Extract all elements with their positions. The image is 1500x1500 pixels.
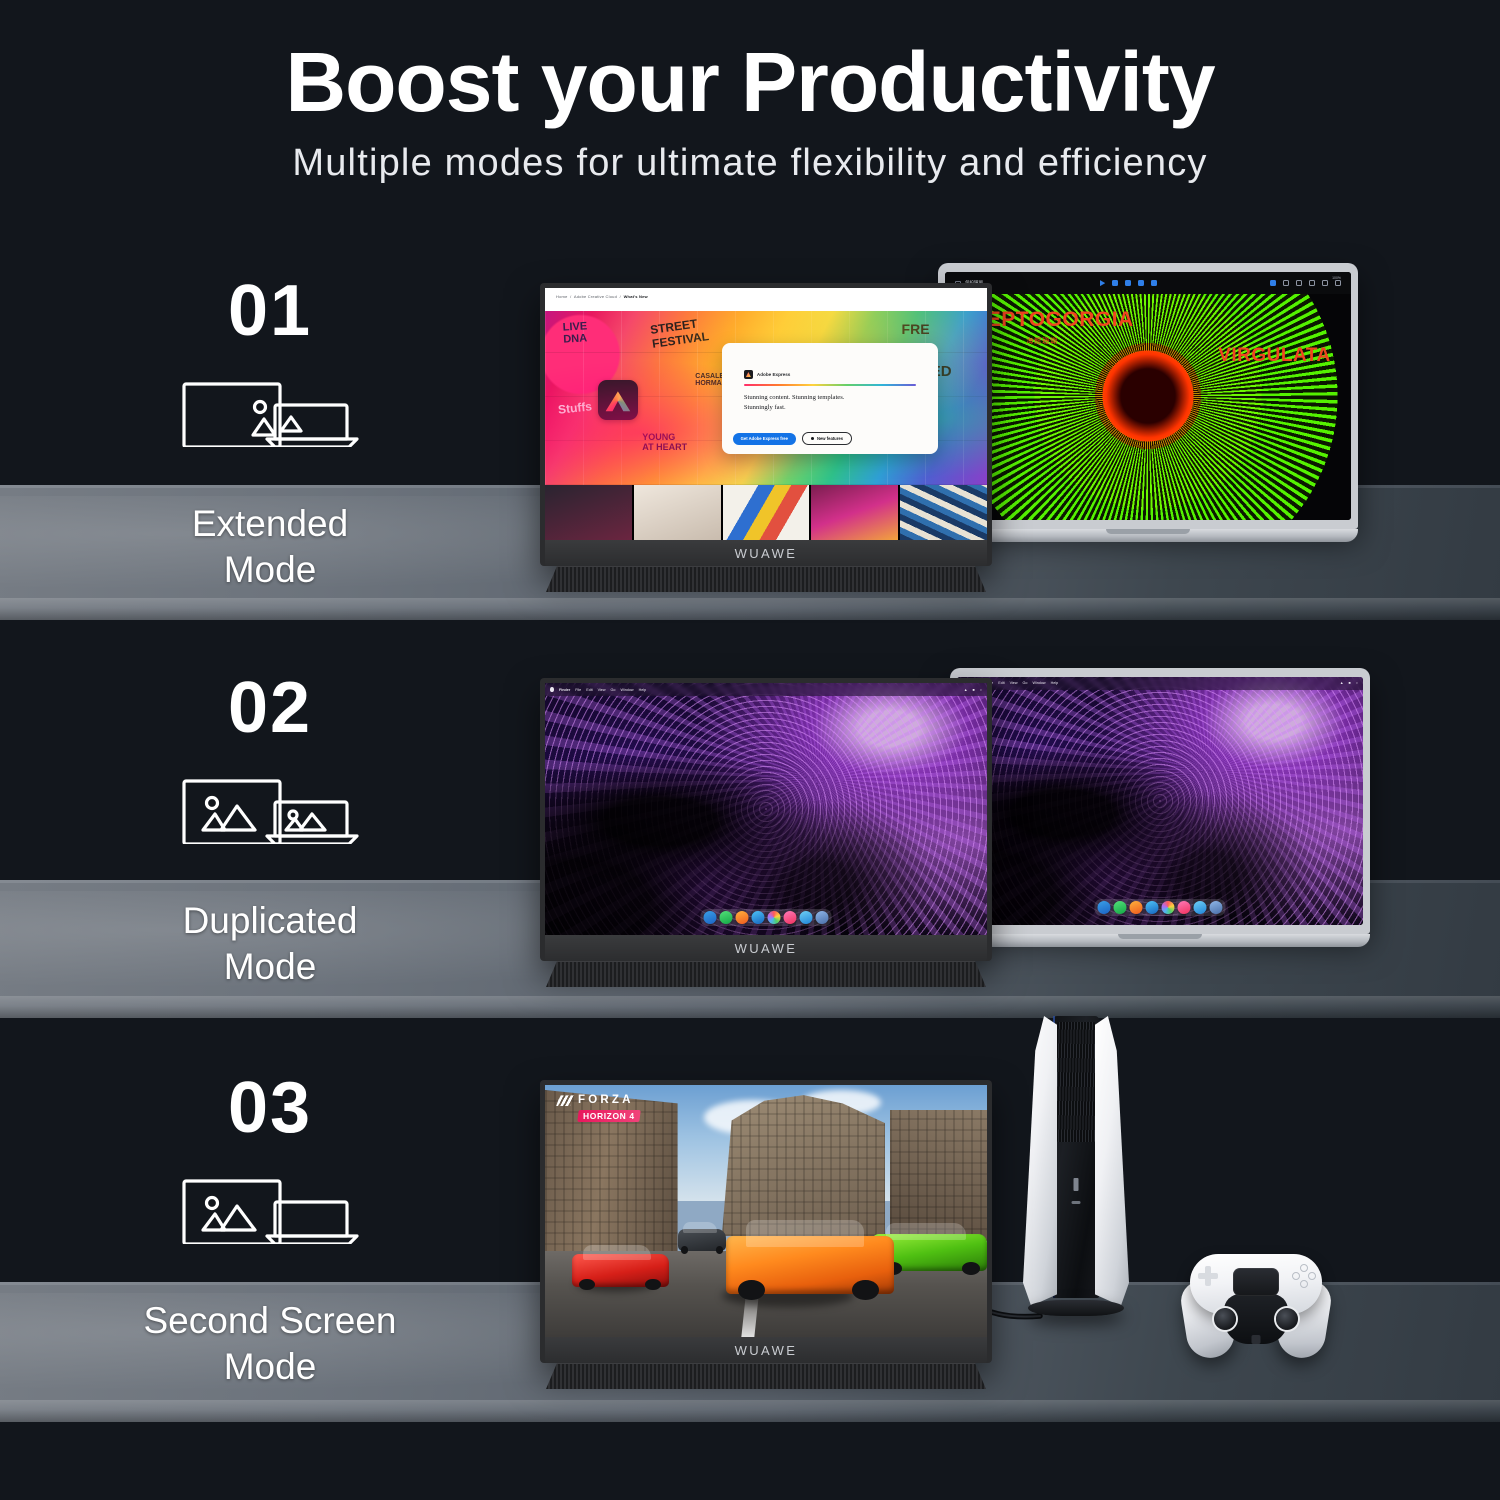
monitor-screen: FORZA HORIZON 4	[545, 1085, 987, 1337]
menu-item-finder[interactable]: Finder	[559, 688, 570, 692]
menu-item-help[interactable]: Help	[1051, 681, 1059, 685]
template-thumbnail[interactable]	[811, 485, 898, 540]
mode-label: Second Screen Mode	[105, 1298, 435, 1391]
battery-icon[interactable]: ■	[973, 688, 975, 692]
ps5-vent	[1056, 1022, 1096, 1142]
breadcrumb-home[interactable]: Home	[556, 294, 567, 299]
cross-button-icon[interactable]	[1300, 1280, 1308, 1288]
device-stage-extended: LEPTOGORGIA 海鳃珊瑚 VIRGULATA 保护珊瑚	[520, 255, 1400, 585]
apple-logo-icon[interactable]	[550, 687, 554, 692]
template-thumbnail[interactable]	[723, 485, 810, 540]
orange-supercar	[726, 1236, 894, 1294]
breadcrumb[interactable]: Home / Adobe Creative Cloud / What's New	[556, 294, 648, 299]
triangle-button-icon[interactable]	[1300, 1264, 1308, 1272]
sparkle-icon	[811, 437, 814, 440]
breadcrumb-current: What's New	[624, 294, 648, 299]
app-toolbar: 保护珊瑚	[945, 272, 1351, 294]
monitor-chin: WUAWE	[545, 1337, 987, 1363]
ps-home-button[interactable]	[1252, 1335, 1261, 1344]
red-supercar	[572, 1254, 669, 1287]
adobe-express-mark-icon	[744, 370, 753, 379]
monitor-screen: LIVEDNA STREETFESTIVAL FRE BAKED CASALEH…	[545, 288, 987, 540]
comment-icon[interactable]	[1296, 280, 1302, 286]
menu-bar-status-items: ▲ ■ ○	[1340, 681, 1358, 685]
card-headline: Stunning content. Stunning templates. St…	[744, 393, 916, 413]
dock-icon-music[interactable]	[1178, 901, 1191, 914]
laptop-deck	[950, 934, 1370, 947]
battery-icon[interactable]: ■	[1349, 681, 1351, 685]
ps5-right-panel	[1095, 1016, 1129, 1306]
dock-icon-finder[interactable]	[1098, 901, 1111, 914]
macos-menu-bar: Finder File Edit View Go Window Help ▲ ■…	[957, 677, 1363, 690]
share-icon[interactable]	[1283, 280, 1289, 286]
dock-icon-appstore[interactable]	[800, 911, 813, 924]
more-icon[interactable]	[1335, 280, 1341, 286]
horizon-4-label: HORIZON 4	[583, 1112, 635, 1122]
dock-icon-appstore[interactable]	[1194, 901, 1207, 914]
gradient-divider	[744, 384, 916, 386]
laptop-lid: LEPTOGORGIA 海鳃珊瑚 VIRGULATA 保护珊瑚	[938, 263, 1358, 529]
monitor-and-laptop-extended-icon	[105, 377, 435, 447]
shelf-bottom-lip	[0, 598, 1500, 620]
monitor-body: Finder File Edit View Go Window Help ▲ ■…	[540, 678, 992, 961]
dpad-icon[interactable]	[1198, 1266, 1218, 1286]
menu-bar-status-items: ▲ ■ ○	[964, 688, 982, 692]
menu-item-file[interactable]: File	[575, 688, 581, 692]
laptop-screen: Finder File Edit View Go Window Help ▲ ■…	[957, 677, 1363, 925]
card-header: Adobe Express	[744, 370, 916, 379]
adobe-express-promo-card: Adobe Express Stunning content. Stunning…	[722, 343, 939, 454]
controller-touchpad[interactable]	[1233, 1268, 1279, 1296]
leptogorgia-artwork-screen: LEPTOGORGIA 海鳃珊瑚 VIRGULATA 保护珊瑚	[945, 272, 1351, 520]
template-thumbnail[interactable]	[545, 485, 632, 540]
battery-status: 100%	[1332, 276, 1341, 280]
clock-icon[interactable]	[1125, 280, 1131, 286]
portable-monitor: LIVEDNA STREETFESTIVAL FRE BAKED CASALEH…	[540, 283, 992, 566]
menu-item-view[interactable]: View	[1010, 681, 1018, 685]
monitor-base-stand	[546, 961, 986, 987]
template-thumbnail-strip	[545, 485, 987, 540]
template-thumbnail[interactable]	[634, 485, 721, 540]
template-thumbnail[interactable]	[900, 485, 987, 540]
menu-item-go[interactable]: Go	[1023, 681, 1028, 685]
horizon-4-badge: HORIZON 4	[577, 1110, 640, 1122]
right-analog-stick[interactable]	[1276, 1308, 1298, 1330]
artwork-title-line2: VIRGULATA	[1218, 346, 1331, 365]
artwork-title-chinese: 海鳃珊瑚	[1026, 336, 1058, 346]
dock-icon-music[interactable]	[784, 911, 797, 924]
adobe-express-page: LIVEDNA STREETFESTIVAL FRE BAKED CASALEH…	[545, 288, 987, 540]
device-stage-second-screen: FORZA HORIZON 4 WUAWE	[520, 1010, 1400, 1410]
macos-dock[interactable]	[1095, 899, 1226, 916]
monitor-body: FORZA HORIZON 4 WUAWE	[540, 1080, 992, 1363]
mode-label-line2: Mode	[224, 549, 317, 590]
building-center	[722, 1095, 886, 1236]
media-icon[interactable]	[1151, 280, 1157, 286]
menu-item-window[interactable]: Window	[1032, 681, 1045, 685]
new-features-button[interactable]: New features	[802, 432, 852, 445]
laptop-notch	[1118, 934, 1202, 939]
format-icon[interactable]	[1322, 280, 1328, 286]
monitor-brand-label: WUAWE	[735, 546, 798, 561]
clock-text[interactable]: ○	[980, 688, 982, 692]
monitor-and-blank-laptop-icon	[105, 1174, 435, 1244]
ps5-core	[1053, 1016, 1099, 1298]
square-button-icon[interactable]	[1292, 1272, 1300, 1280]
wifi-icon[interactable]: ▲	[1340, 681, 1344, 685]
forza-horizon-4-game-screen: FORZA HORIZON 4	[545, 1085, 987, 1337]
mode-label-line1: Duplicated	[183, 900, 358, 941]
page-subtitle: Multiple modes for ultimate flexibility …	[0, 142, 1500, 185]
mode-label-line1: Extended	[192, 503, 348, 544]
mode-label: Extended Mode	[105, 501, 435, 594]
monitor-screen: Finder File Edit View Go Window Help ▲ ■…	[545, 683, 987, 935]
breadcrumb-mid[interactable]: Adobe Creative Cloud	[574, 294, 617, 299]
purple-coral-wallpaper	[545, 683, 987, 935]
get-adobe-express-free-button[interactable]: Get Adobe Express free	[733, 433, 796, 444]
monitor-chin: WUAWE	[545, 540, 987, 566]
dock-icon-mail[interactable]	[1130, 901, 1143, 914]
forza-horizon-logo: FORZA HORIZON 4	[556, 1095, 640, 1125]
device-stage-duplicated: Finder File Edit View Go Window Help ▲ ■…	[520, 650, 1400, 990]
dock-icon-safari[interactable]	[752, 911, 765, 924]
browser-header-bar	[545, 288, 987, 311]
laptop-lid: Finder File Edit View Go Window Help ▲ ■…	[950, 668, 1370, 934]
new-features-label: New features	[817, 436, 843, 441]
card-app-name: Adobe Express	[757, 372, 790, 377]
mode-label: Duplicated Mode	[105, 898, 435, 991]
mode-block-duplicated: 02 Duplicated Mode	[105, 672, 435, 991]
portable-monitor: FORZA HORIZON 4 WUAWE	[540, 1080, 992, 1363]
monitor-base-stand	[546, 1363, 986, 1389]
play-icon[interactable]	[1099, 280, 1105, 286]
dualsense-controller[interactable]	[1180, 1250, 1332, 1358]
left-analog-stick[interactable]	[1214, 1308, 1236, 1330]
forza-wordmark: FORZA	[578, 1095, 634, 1107]
laptop-deck	[938, 529, 1358, 542]
forza-wordmark-row: FORZA	[556, 1095, 640, 1107]
dock-icon-finder[interactable]	[704, 911, 717, 924]
macos-desktop-primary: Finder File Edit View Go Window Help ▲ ■…	[545, 683, 987, 935]
dock-icon-facetime[interactable]	[720, 911, 733, 924]
macos-desktop-duplicate: Finder File Edit View Go Window Help ▲ ■…	[957, 677, 1363, 925]
monitor-brand-label: WUAWE	[735, 941, 798, 956]
mode-label-line2: Mode	[224, 1346, 317, 1387]
dock-icon-settings[interactable]	[1210, 901, 1223, 914]
laptop: Finder File Edit View Go Window Help ▲ ■…	[950, 668, 1370, 947]
playstation-5-console	[1020, 1016, 1132, 1316]
ps5-power-button[interactable]	[1072, 1201, 1081, 1204]
toolbar-right-tools[interactable]	[1270, 280, 1341, 286]
face-buttons-icon[interactable]	[1292, 1264, 1316, 1288]
mode-number: 02	[105, 672, 435, 744]
header: Boost your Productivity Multiple modes f…	[0, 0, 1500, 185]
artwork-title-line1: LEPTOGORGIA	[973, 309, 1133, 330]
traffic-car	[678, 1229, 727, 1252]
mode-block-extended: 01 Extended Mode	[105, 275, 435, 594]
ps5-left-panel	[1023, 1016, 1057, 1306]
menu-item-edit[interactable]: Edit	[998, 681, 1004, 685]
dock-icon-photos[interactable]	[768, 911, 781, 924]
toolbar-center-tools[interactable]	[1099, 280, 1157, 286]
purple-coral-wallpaper	[957, 677, 1363, 925]
menu-item-help[interactable]: Help	[639, 688, 647, 692]
monitor-body: LIVEDNA STREETFESTIVAL FRE BAKED CASALEH…	[540, 283, 992, 566]
mode-number: 03	[105, 1072, 435, 1144]
mode-number: 01	[105, 275, 435, 347]
adobe-express-logo	[598, 380, 638, 420]
menu-item-edit[interactable]: Edit	[586, 688, 592, 692]
card-headline-line1: Stunning content. Stunning templates.	[744, 394, 845, 401]
ps5-body	[1020, 1016, 1132, 1316]
macos-menu-bar: Finder File Edit View Go Window Help ▲ ■…	[545, 683, 987, 696]
laptop-notch	[1106, 529, 1190, 534]
laptop-screen: LEPTOGORGIA 海鳃珊瑚 VIRGULATA 保护珊瑚	[945, 272, 1351, 520]
pen-icon[interactable]	[1309, 280, 1315, 286]
ps5-stand	[1028, 1300, 1124, 1316]
dock-icon-mail[interactable]	[736, 911, 749, 924]
mode-label-line1: Second Screen	[143, 1300, 396, 1341]
building-right	[890, 1110, 987, 1241]
dock-icon-safari[interactable]	[1146, 901, 1159, 914]
pages-icon[interactable]	[1112, 280, 1118, 286]
monitor-and-laptop-duplicated-icon	[105, 774, 435, 844]
cloud-icon[interactable]	[1270, 280, 1276, 286]
shapes-icon[interactable]	[1138, 280, 1144, 286]
forza-chevron-icon	[556, 1095, 574, 1106]
monitor-base-stand	[546, 566, 986, 592]
circle-button-icon[interactable]	[1308, 1272, 1316, 1280]
dock-icon-facetime[interactable]	[1114, 901, 1127, 914]
card-actions: Get Adobe Express free New features	[733, 432, 852, 445]
macos-dock[interactable]	[701, 909, 832, 926]
card-headline-line2: Stunningly fast.	[744, 404, 786, 411]
page-title: Boost your Productivity	[0, 38, 1500, 126]
portable-monitor: Finder File Edit View Go Window Help ▲ ■…	[540, 678, 992, 961]
product-feature-page: Boost your Productivity Multiple modes f…	[0, 0, 1500, 1500]
clock-text[interactable]: ○	[1356, 681, 1358, 685]
dock-icon-photos[interactable]	[1162, 901, 1175, 914]
menu-item-go[interactable]: Go	[611, 688, 616, 692]
laptop: LEPTOGORGIA 海鳃珊瑚 VIRGULATA 保护珊瑚	[938, 263, 1358, 542]
monitor-chin: WUAWE	[545, 935, 987, 961]
wifi-icon[interactable]: ▲	[964, 688, 968, 692]
dock-icon-settings[interactable]	[816, 911, 829, 924]
menu-item-view[interactable]: View	[598, 688, 606, 692]
mode-block-second-screen: 03 Second Screen Mode	[105, 1072, 435, 1391]
monitor-brand-label: WUAWE	[735, 1343, 798, 1358]
menu-item-window[interactable]: Window	[620, 688, 633, 692]
mode-label-line2: Mode	[224, 946, 317, 987]
ps5-logo-icon	[1074, 1178, 1079, 1191]
